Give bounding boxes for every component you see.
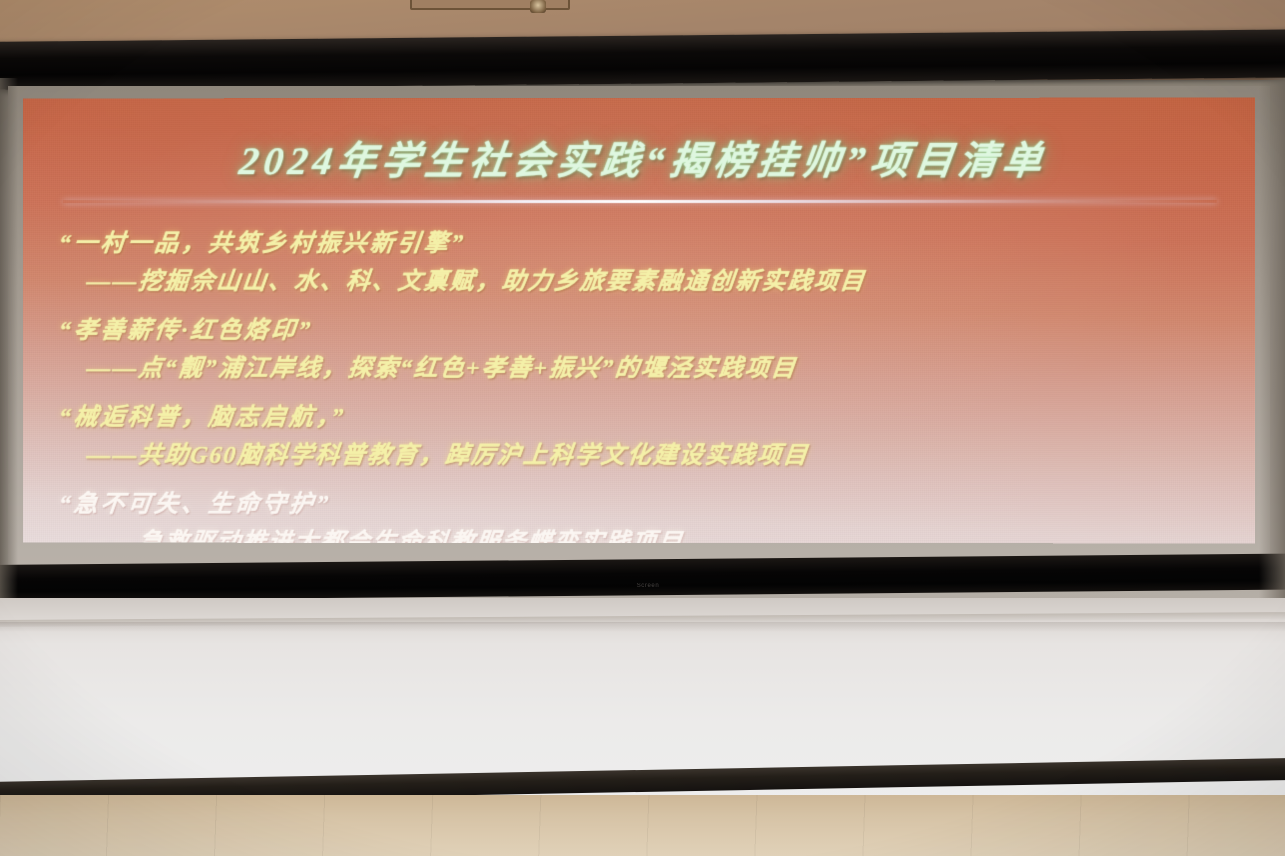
- slide-title: 2024年学生社会实践“揭榜挂帅”项目清单: [46, 130, 1233, 187]
- right-wall-shadow: [1259, 78, 1285, 598]
- project-subtitle: ——急救驱动推进大都会生命科教服务蝶变实践项目: [51, 522, 1231, 544]
- list-item: “急不可失、生命守护” ——急救驱动推进大都会生命科教服务蝶变实践项目: [53, 484, 1229, 544]
- room-photo-scene: 2024年学生社会实践“揭榜挂帅”项目清单 “一村一品，共筑乡村振兴新引擎” —…: [0, 0, 1285, 856]
- list-item: “一村一品，共筑乡村振兴新引擎” ——挖掘佘山山、水、科、文禀赋，助力乡旅要素融…: [53, 223, 1229, 296]
- project-title: “械逅科普，脑志启航，”: [51, 397, 1231, 432]
- project-title: “孝善薪传·红色烙印”: [51, 310, 1231, 345]
- ceiling-recess-panel: [410, 0, 570, 10]
- screen-brand-label: Screen: [618, 583, 678, 589]
- list-item: “械逅科普，脑志启航，” ——共助G60脑科学科普教育，踔厉沪上科学文化建设实践…: [53, 397, 1229, 470]
- panel-shadow: [0, 622, 1285, 632]
- title-divider: [63, 200, 1217, 203]
- project-subtitle: ——共助G60脑科学科普教育，踔厉沪上科学文化建设实践项目: [51, 435, 1231, 470]
- list-item: “孝善薪传·红色烙印” ——点“靓”浦江岸线，探索“红色+孝善+振兴”的堰泾实践…: [53, 310, 1229, 383]
- project-title: “急不可失、生命守护”: [51, 484, 1231, 520]
- projected-slide: 2024年学生社会实践“揭榜挂帅”项目清单 “一村一品，共筑乡村振兴新引擎” —…: [23, 98, 1255, 544]
- ceiling-light-fixture-icon: [530, 0, 546, 13]
- wooden-floor: [0, 795, 1285, 856]
- project-list: “一村一品，共筑乡村振兴新引擎” ——挖掘佘山山、水、科、文禀赋，助力乡旅要素融…: [49, 223, 1229, 544]
- left-wall-shadow: [0, 78, 18, 598]
- project-subtitle: ——点“靓”浦江岸线，探索“红色+孝善+振兴”的堰泾实践项目: [51, 348, 1231, 383]
- project-subtitle: ——挖掘佘山山、水、科、文禀赋，助力乡旅要素融通创新实践项目: [51, 261, 1231, 296]
- project-title: “一村一品，共筑乡村振兴新引擎”: [51, 223, 1231, 258]
